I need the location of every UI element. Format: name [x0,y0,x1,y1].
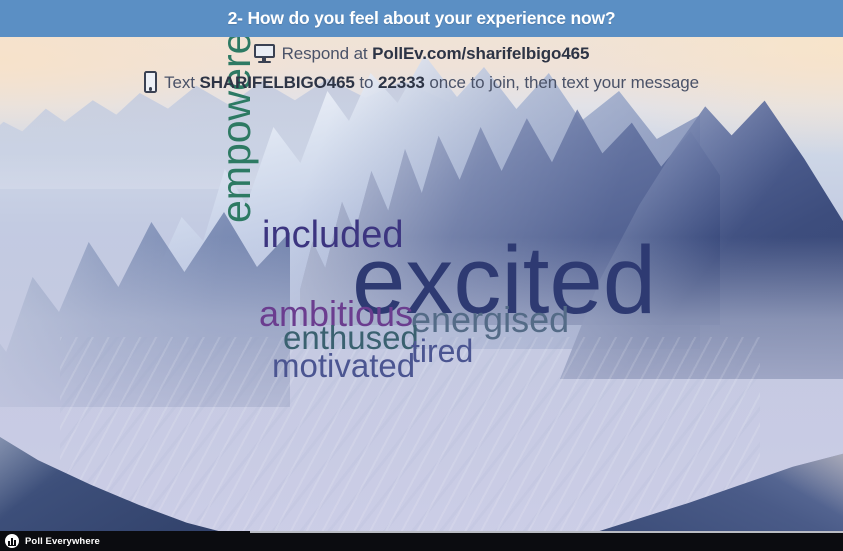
poll-everywhere-logo[interactable]: Poll Everywhere [0,534,100,548]
text-middle: to [355,73,378,92]
question-bar: 2- How do you feel about your experience… [0,0,843,37]
presentation-slide: 2- How do you feel about your experience… [0,0,843,551]
cloud-word: tired [411,337,473,365]
word-cloud: excitedempoweredincludedambitiousenergis… [0,37,843,531]
footer-bar: Poll Everywhere [0,531,843,551]
text-keyword: SHARIFELBIGO465 [199,73,354,92]
text-instruction-text: Text SHARIFELBIGO465 to 22333 once to jo… [164,74,699,91]
respond-at-text: Respond at PollEv.com/sharifelbigo465 [282,45,590,62]
poll-everywhere-bar-chart-icon [5,534,19,548]
response-instructions: Respond at PollEv.com/sharifelbigo465 Te… [0,44,843,93]
poll-everywhere-brand-name: Poll Everywhere [25,536,100,547]
poll-url[interactable]: PollEv.com/sharifelbigo465 [372,44,589,63]
text-prefix: Text [164,73,199,92]
footer-progress-highlight [250,531,843,533]
mobile-phone-icon [144,71,157,93]
respond-via-sms-row: Text SHARIFELBIGO465 to 22333 once to jo… [0,71,843,93]
cloud-word: included [262,219,404,252]
poll-question-title: 2- How do you feel about your experience… [228,8,616,29]
monitor-icon [254,44,275,63]
cloud-word: energised [411,304,569,336]
respond-at-prefix: Respond at [282,44,373,63]
cloud-word: empowered [218,9,254,223]
text-shortcode: 22333 [378,73,425,92]
cloud-word: motivated [272,351,415,380]
text-suffix: once to join, then text your message [425,73,699,92]
respond-via-web-row: Respond at PollEv.com/sharifelbigo465 [0,44,843,63]
